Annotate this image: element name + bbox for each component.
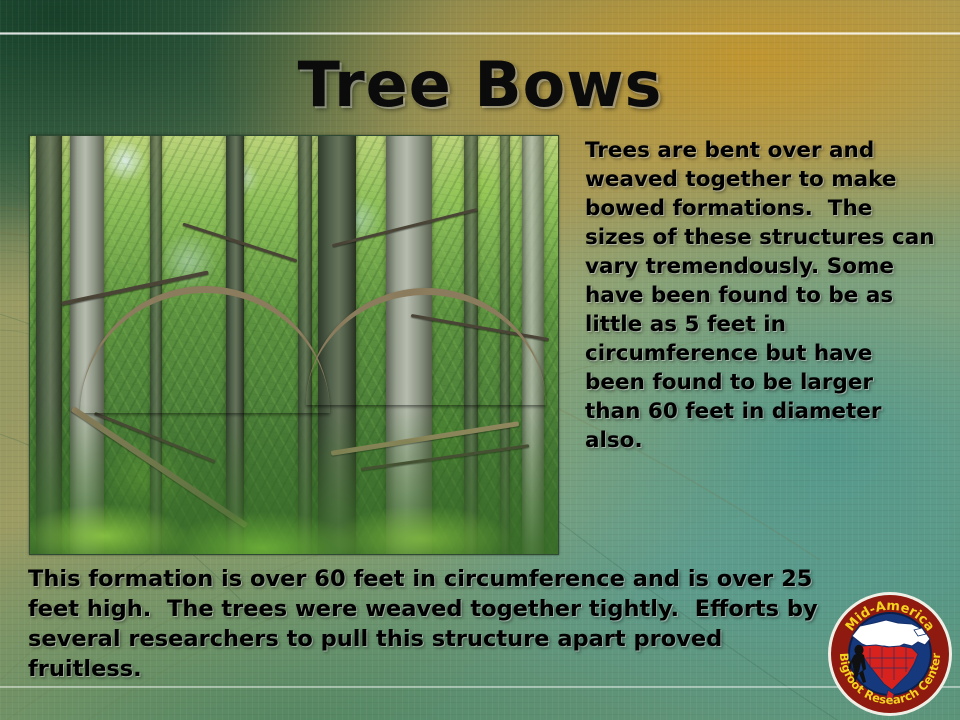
mid-america-bigfoot-research-center-logo: Mid-America Bigfoot Research Center (826, 590, 954, 718)
tree-bow-photo (29, 135, 559, 555)
caption-paragraph: This formation is over 60 feet in circum… (28, 564, 828, 684)
photo-undergrowth (30, 404, 558, 554)
page-title: Tree Bows (0, 48, 960, 121)
caption-text-block: This formation is over 60 feet in circum… (28, 564, 828, 684)
side-text-block: Trees are bent over and weaved together … (585, 136, 935, 455)
slide-canvas: Tree Bows Trees are bent over and weaved… (0, 0, 960, 720)
side-text-paragraph: Trees are bent over and weaved together … (585, 136, 935, 455)
bottom-rule-line (0, 686, 960, 688)
top-rule-line (0, 32, 960, 35)
